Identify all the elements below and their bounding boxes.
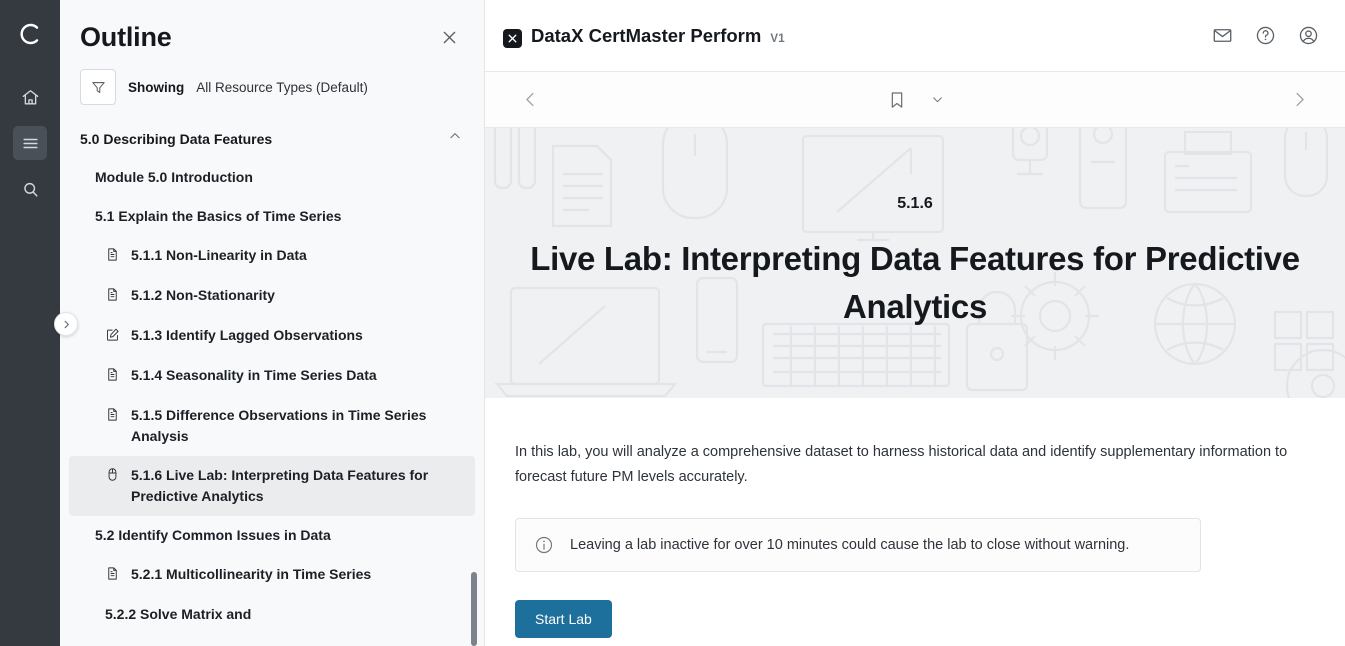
outline-item[interactable]: 5.1.2 Non-Stationarity	[69, 276, 475, 316]
rail-item-home[interactable]	[13, 80, 47, 114]
close-icon[interactable]	[436, 25, 462, 51]
inactivity-notice-text: Leaving a lab inactive for over 10 minut…	[570, 537, 1129, 553]
outline-item-label: 5.1.4 Seasonality in Time Series Data	[131, 365, 377, 386]
help-icon[interactable]	[1255, 25, 1276, 46]
left-icon-rail	[0, 0, 60, 646]
hero-lesson-number: 5.1.6	[897, 195, 933, 213]
outline-item-label: 5.1.1 Non-Linearity in Data	[131, 245, 307, 266]
document-icon	[105, 247, 121, 267]
filter-showing-value[interactable]: All Resource Types (Default)	[196, 80, 368, 95]
sidebar-collapse-handle[interactable]	[54, 312, 78, 336]
brand-title: DataX CertMaster Perform	[531, 25, 761, 47]
outline-scrollbar-thumb[interactable]	[471, 572, 477, 646]
outline-item-label: 5.2.1 Multicollinearity in Time Series	[131, 564, 371, 585]
brand-logo-icon	[503, 29, 522, 48]
outline-item-label: 5.2.2 Solve Matrix and	[105, 604, 251, 625]
page-nav-bar	[485, 72, 1345, 128]
outline-title: Outline	[80, 22, 172, 53]
outline-scrollbar[interactable]	[471, 117, 477, 646]
outline-item-list: Module 5.0 Introduction5.1 Explain the B…	[60, 158, 484, 634]
outline-item-label: 5.1.5 Difference Observations in Time Se…	[131, 405, 457, 447]
mail-icon[interactable]	[1212, 25, 1233, 46]
page-title: Live Lab: Interpreting Data Features for…	[500, 235, 1330, 331]
outline-group-header[interactable]: 5.0 Describing Data Features	[60, 119, 484, 158]
document-icon	[105, 566, 121, 586]
outline-item[interactable]: 5.2 Identify Common Issues in Data	[69, 516, 475, 555]
outline-item-label: 5.1.3 Identify Lagged Observations	[131, 325, 363, 346]
app-root: Outline Showing All Resource Types (Defa…	[0, 0, 1345, 646]
filter-row: Showing All Resource Types (Default)	[60, 61, 484, 117]
outline-header: Outline	[60, 0, 484, 61]
outline-panel: Outline Showing All Resource Types (Defa…	[60, 0, 485, 646]
start-lab-button[interactable]: Start Lab	[515, 600, 612, 638]
bookmark-icon[interactable]	[887, 90, 907, 110]
main-content: DataX CertMaster Perform V1	[485, 0, 1345, 646]
bookmark-dropdown-chevron-down-icon[interactable]	[931, 93, 944, 106]
outline-item[interactable]: 5.1.5 Difference Observations in Time Se…	[69, 396, 475, 456]
bookmark-group	[887, 90, 944, 110]
lab-description: In this lab, you will analyze a comprehe…	[515, 440, 1315, 490]
rail-item-search[interactable]	[13, 172, 47, 206]
document-icon	[105, 367, 121, 387]
filter-showing-label: Showing	[128, 80, 184, 95]
outline-item[interactable]: 5.1 Explain the Basics of Time Series	[69, 197, 475, 236]
hero-banner: 5.1.6 Live Lab: Interpreting Data Featur…	[485, 128, 1345, 398]
prev-page-button[interactable]	[521, 90, 540, 109]
document-icon	[105, 287, 121, 307]
top-header-bar: DataX CertMaster Perform V1	[485, 0, 1345, 72]
outline-group-label: 5.0 Describing Data Features	[80, 131, 272, 147]
rail-item-outline[interactable]	[13, 126, 47, 160]
outline-item-selected[interactable]: 5.1.6 Live Lab: Interpreting Data Featur…	[69, 456, 475, 516]
brand-version: V1	[770, 33, 785, 45]
app-logo-icon[interactable]	[10, 14, 50, 54]
content-body: In this lab, you will analyze a comprehe…	[485, 398, 1345, 638]
outline-item[interactable]: Module 5.0 Introduction	[69, 158, 475, 197]
account-icon[interactable]	[1298, 25, 1319, 46]
mouse-icon	[105, 467, 121, 487]
document-icon	[105, 407, 121, 427]
inactivity-notice: Leaving a lab inactive for over 10 minut…	[515, 518, 1201, 572]
outline-item-label: 5.1.6 Live Lab: Interpreting Data Featur…	[131, 465, 457, 507]
pencil-icon	[105, 327, 121, 347]
outline-item[interactable]: 5.1.1 Non-Linearity in Data	[69, 236, 475, 276]
filter-icon[interactable]	[80, 69, 116, 105]
outline-item-label: 5.1.2 Non-Stationarity	[131, 285, 275, 306]
outline-item[interactable]: 5.2.2 Solve Matrix and	[69, 595, 475, 634]
chevron-up-icon[interactable]	[448, 129, 462, 148]
info-icon	[534, 535, 554, 555]
outline-scroll-region: 5.0 Describing Data Features Module 5.0 …	[60, 117, 484, 646]
outline-item[interactable]: 5.2.1 Multicollinearity in Time Series	[69, 555, 475, 595]
brand: DataX CertMaster Perform V1	[503, 25, 785, 47]
next-page-button[interactable]	[1290, 90, 1309, 109]
outline-item-label: 5.1 Explain the Basics of Time Series	[95, 206, 341, 227]
outline-item[interactable]: 5.1.4 Seasonality in Time Series Data	[69, 356, 475, 396]
outline-item-label: Module 5.0 Introduction	[95, 167, 253, 188]
outline-item-label: 5.2 Identify Common Issues in Data	[95, 525, 331, 546]
outline-item[interactable]: 5.1.3 Identify Lagged Observations	[69, 316, 475, 356]
header-icon-group	[1212, 25, 1327, 46]
